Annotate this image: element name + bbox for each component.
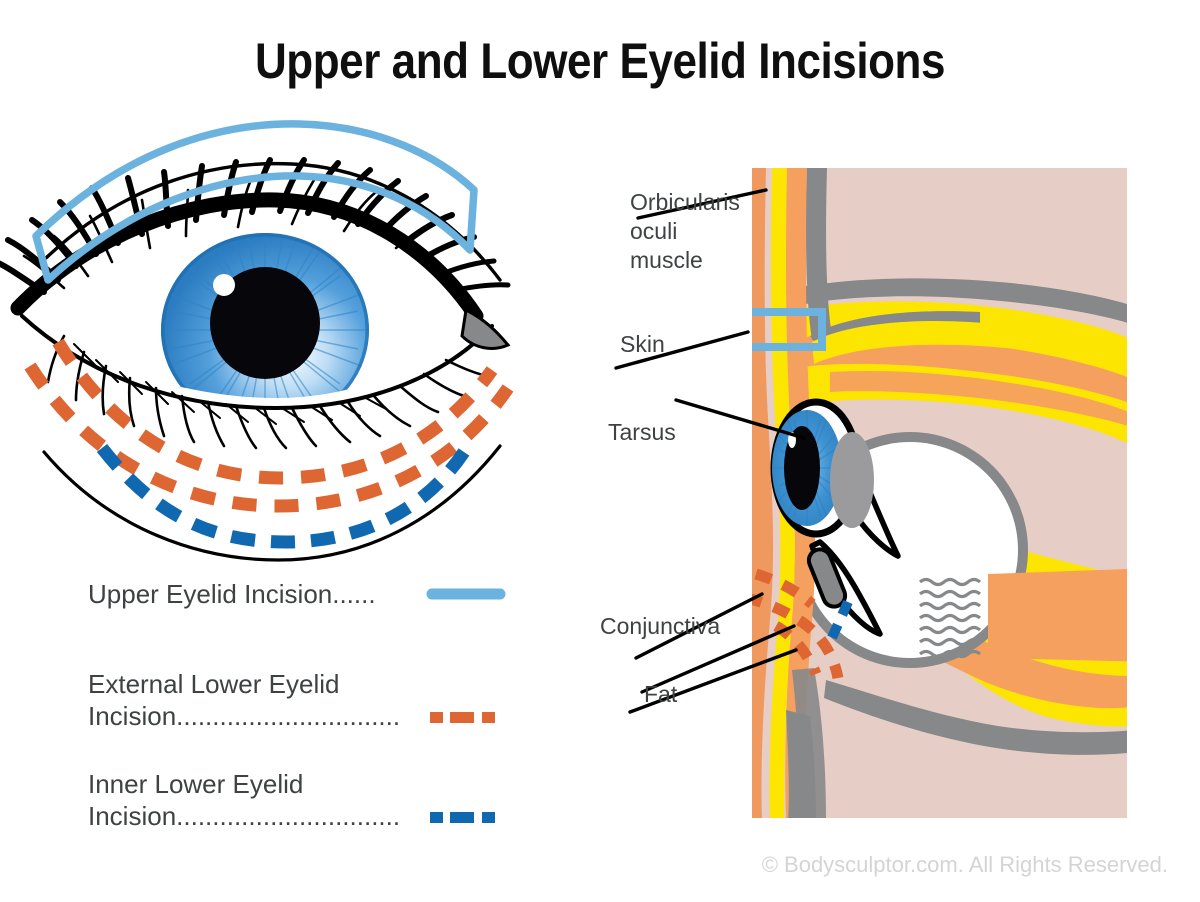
- legend-item-upper-eyelid-incision: Upper Eyelid Incision......: [88, 578, 518, 610]
- label-fat: Fat: [644, 680, 677, 709]
- dashed-line-swatch-orange: [426, 710, 506, 724]
- legend: Upper Eyelid Incision...... External Low…: [88, 578, 518, 848]
- label-tarsus: Tarsus: [608, 418, 676, 447]
- page-title: Upper and Lower Eyelid Incisions: [72, 32, 1128, 90]
- label-orbicularis-oculi-muscle: Orbicularis oculi muscle: [630, 188, 740, 275]
- eye-highlight: [213, 274, 235, 296]
- inner-lower-eyelid-incision-marking: [102, 448, 464, 542]
- dashed-line-swatch-blue: [426, 810, 506, 824]
- cross-section-body: [728, 168, 1154, 822]
- eyelid-cross-section-illustration: Orbicularis oculi muscle Skin Tarsus Con…: [580, 150, 1200, 850]
- label-conjunctiva: Conjunctiva: [600, 612, 720, 641]
- rectus-muscle: [988, 568, 1154, 662]
- legend-item-inner-lower-eyelid-incision: Inner Lower Eyelid Incision.............…: [88, 768, 518, 832]
- solid-line-swatch: [426, 587, 506, 601]
- frontal-eye-illustration: [0, 130, 560, 590]
- illustration-root: Upper and Lower Eyelid Incisions: [0, 0, 1200, 902]
- lens: [830, 432, 874, 528]
- copyright-notice: © Bodysculptor.com. All Rights Reserved.: [0, 852, 1168, 878]
- label-skin: Skin: [620, 330, 665, 359]
- legend-item-external-lower-eyelid-incision: External Lower Eyelid Incision..........…: [88, 668, 518, 732]
- lateral-canthus: [462, 310, 508, 348]
